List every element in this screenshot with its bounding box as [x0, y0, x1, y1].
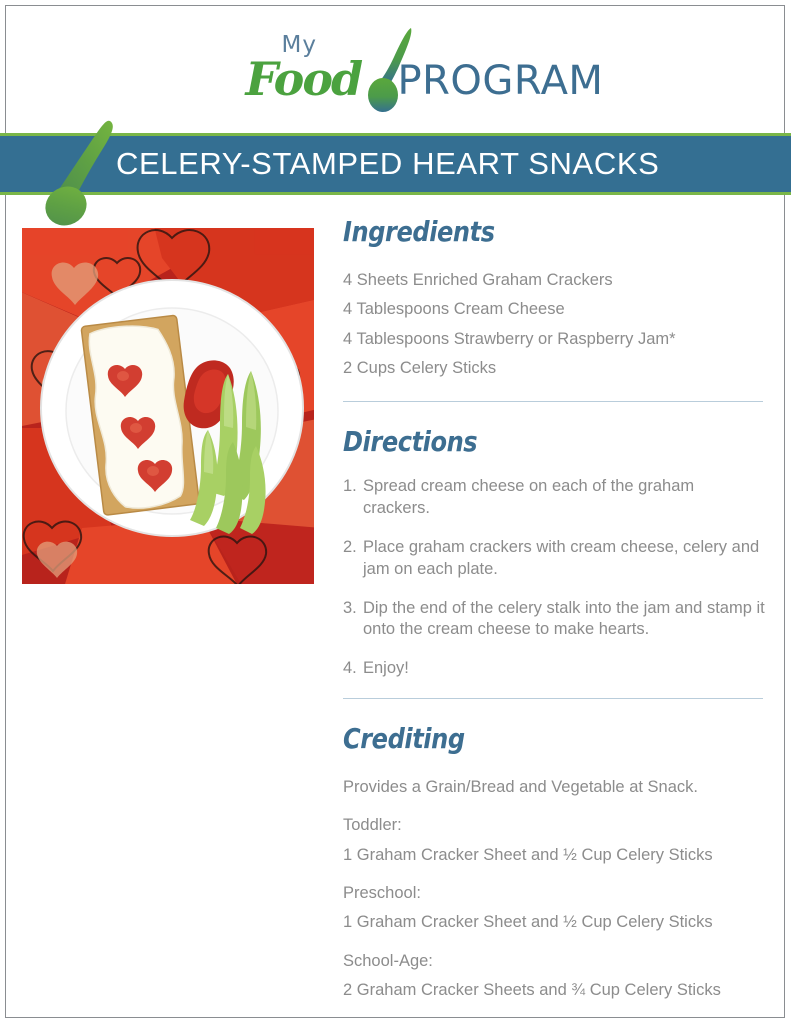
title-banner: CELERY-STAMPED HEART SNACKS [0, 133, 791, 195]
step-text: Dip the end of the celery stalk into the… [363, 598, 765, 642]
step-text: Enjoy! [363, 658, 765, 680]
logo-program-text: PROGRAM [398, 58, 604, 104]
step-text: Spread cream cheese on each of the graha… [363, 476, 765, 520]
section-divider [343, 698, 763, 699]
step-text: Place graham crackers with cream cheese,… [363, 537, 765, 581]
crediting-group-amount: 1 Graham Cracker Sheet and ½ Cup Celery … [343, 841, 765, 870]
crediting-section: Crediting Provides a Grain/Bread and Veg… [343, 725, 765, 1024]
page-title: CELERY-STAMPED HEART SNACKS [116, 146, 659, 182]
brand-logo: My Food PROGRAM [0, 28, 791, 118]
list-item: 4 Tablespoons Cream Cheese [343, 295, 765, 324]
crediting-group-toddler: Toddler: 1 Graham Cracker Sheet and ½ Cu… [343, 811, 765, 870]
list-item: 4 Sheets Enriched Graham Crackers [343, 266, 765, 295]
list-item: 1. Spread cream cheese on each of the gr… [343, 476, 765, 520]
step-number: 3. [343, 598, 363, 642]
ingredients-section: Ingredients 4 Sheets Enriched Graham Cra… [343, 218, 765, 383]
crediting-heading: Crediting [343, 725, 706, 753]
crediting-group-school-age: School-Age: 2 Graham Cracker Sheets and … [343, 947, 765, 1006]
ingredients-heading: Ingredients [343, 218, 706, 246]
ingredients-list: 4 Sheets Enriched Graham Crackers 4 Tabl… [343, 266, 765, 383]
recipe-content: Ingredients 4 Sheets Enriched Graham Cra… [343, 218, 765, 1024]
list-item: 4. Enjoy! [343, 658, 765, 680]
step-number: 1. [343, 476, 363, 520]
recipe-page: My Food PROGRAM CELERY-STAMPED HEART SNA… [0, 0, 791, 1024]
directions-section: Directions 1. Spread cream cheese on eac… [343, 428, 765, 679]
crediting-group-label: Toddler: [343, 811, 765, 840]
crediting-group-label: Preschool: [343, 879, 765, 908]
crediting-group-label: School-Age: [343, 947, 765, 976]
list-item: 4 Tablespoons Strawberry or Raspberry Ja… [343, 325, 765, 354]
crediting-group-preschool: Preschool: 1 Graham Cracker Sheet and ½ … [343, 879, 765, 938]
step-number: 2. [343, 537, 363, 581]
list-item: 2 Cups Celery Sticks [343, 354, 765, 383]
logo-food-text: Food [246, 52, 362, 106]
crediting-group-amount: 1 Graham Cracker Sheet and ½ Cup Celery … [343, 908, 765, 937]
crediting-intro: Provides a Grain/Bread and Vegetable at … [343, 773, 765, 802]
crediting-group-amount: 2 Graham Cracker Sheets and ¾ Cup Celery… [343, 976, 765, 1005]
list-item: 2. Place graham crackers with cream chee… [343, 537, 765, 581]
section-divider [343, 401, 763, 402]
step-number: 4. [343, 658, 363, 680]
directions-list: 1. Spread cream cheese on each of the gr… [343, 476, 765, 679]
list-item: 3. Dip the end of the celery stalk into … [343, 598, 765, 642]
directions-heading: Directions [343, 428, 706, 456]
recipe-photo [22, 228, 314, 584]
